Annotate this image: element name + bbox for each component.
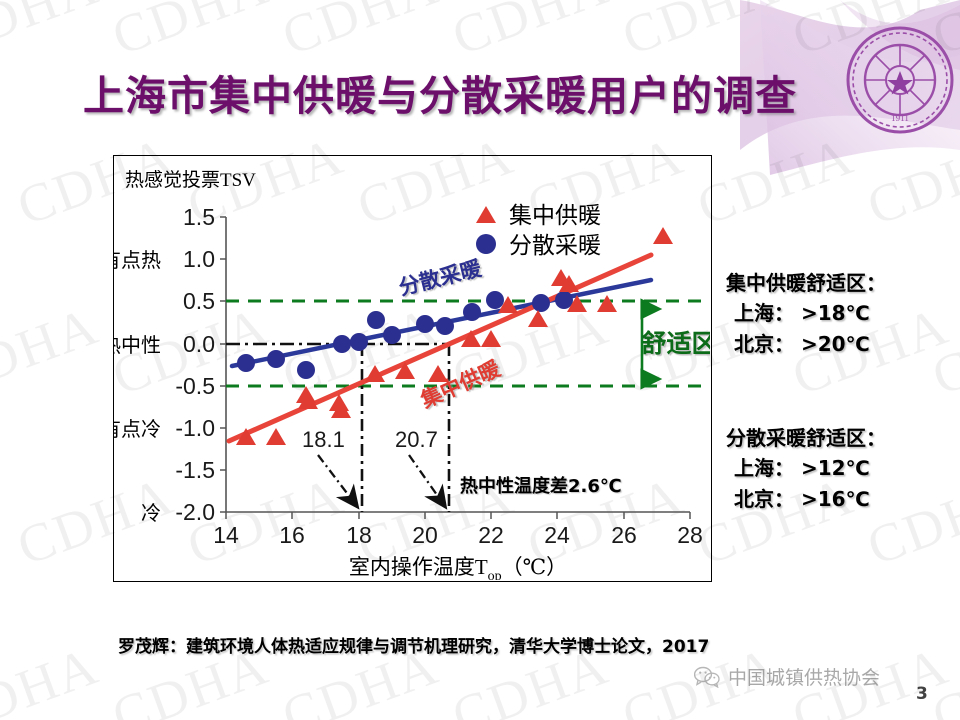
x-tick-label: 24	[544, 522, 570, 548]
scale-label-cold: 冷	[141, 502, 161, 525]
citation-text: 罗茂辉：建筑环境人体热适应规律与调节机理研究，清华大学博士论文，2017	[118, 632, 709, 657]
y-axis-tick-labels: 1.5 1.0 0.5 0.0 -0.5 -1.0 -1.5 -2.0	[175, 204, 215, 525]
watermark-text: CDHA	[689, 124, 862, 237]
x-tick-label: 22	[478, 522, 504, 548]
legend-label-local-heating: 分散采暖	[509, 233, 601, 258]
page-number: 3	[916, 684, 928, 704]
data-points-central-heating	[236, 227, 673, 445]
logo-year-text: 1911	[891, 113, 909, 123]
y-axis-title: 热感觉投票TSV	[125, 169, 256, 191]
central-heating-comfort-panel: 集中供暖舒适区： 上海： >18℃ 北京： >20℃	[726, 268, 886, 359]
thermal-sensation-chart: 热感觉投票TSV 1.5 1.0 0.5 0.0 -0.5 -1.0 -1.5 …	[113, 155, 710, 580]
slide-root: 1911 上海市集中供暖与分散采暖用户的调查 热感觉投票TSV	[0, 0, 960, 720]
central-heating-heading: 集中供暖舒适区：	[726, 268, 886, 298]
local-heating-heading: 分散采暖舒适区：	[726, 423, 886, 453]
watermark-text: CDHA	[859, 124, 960, 237]
neutral-temp-label-20: 20.7	[395, 427, 438, 452]
page-title: 上海市集中供暖与分散采暖用户的调查	[0, 62, 880, 122]
x-tick-label: 16	[279, 522, 305, 548]
watermark-text: CDHA	[0, 0, 107, 68]
y-tick-label: 0.0	[183, 331, 215, 357]
x-tick-label: 14	[213, 522, 239, 548]
y-tick-label: 1.0	[183, 246, 215, 272]
scale-label-neutral: 热中性	[113, 334, 161, 357]
y-tick-label: 1.5	[183, 204, 215, 230]
wechat-account-name: 中国城镇供热协会	[728, 663, 880, 690]
local-heating-comfort-panel: 分散采暖舒适区： 上海： >12℃ 北京： >16℃	[726, 423, 886, 514]
x-tick-label: 20	[412, 522, 438, 548]
central-heating-shanghai: 上海： >18℃	[726, 298, 886, 328]
x-axis-title-sub: op	[488, 569, 502, 580]
wechat-icon	[694, 666, 721, 688]
chart-legend: 集中供暖 分散采暖	[476, 203, 601, 258]
local-heating-shanghai: 上海： >12℃	[726, 453, 886, 483]
neutral-difference-note: 热中性温度差2.6℃	[460, 475, 622, 497]
x-tick-label: 18	[346, 522, 372, 548]
x-axis-title: 室内操作温度Top（℃）	[349, 555, 567, 580]
legend-marker-circle	[476, 234, 496, 254]
callout-arrow-18	[318, 455, 356, 505]
legend-label-central-heating: 集中供暖	[509, 203, 601, 228]
central-heating-beijing: 北京： >20℃	[726, 329, 886, 359]
y-scale-verbal-labels: 有点热 热中性 有点冷 冷	[113, 249, 161, 525]
watermark-text: CDHA	[924, 294, 960, 407]
local-heating-beijing: 北京： >16℃	[726, 484, 886, 514]
curve-label-local-heating: 分散采暖	[396, 256, 484, 300]
y-axis-ticks	[220, 217, 226, 512]
scale-label-cool: 有点冷	[113, 418, 161, 441]
x-axis-title-main: 室内操作温度T	[349, 555, 488, 579]
y-tick-label: 0.5	[183, 288, 215, 314]
comfort-zone-label: 舒适区	[641, 329, 710, 358]
watermark-text: CDHA	[924, 634, 960, 720]
callout-arrow-20	[409, 455, 444, 505]
watermark-text: CDHA	[0, 634, 107, 720]
x-tick-label: 28	[677, 522, 703, 548]
y-tick-label: -2.0	[175, 499, 215, 525]
legend-marker-triangle	[476, 206, 496, 223]
watermark-text: CDHA	[444, 0, 617, 68]
x-axis-tick-labels: 14 16 18 20 22 24 26 28	[213, 522, 703, 548]
watermark-text: CDHA	[0, 294, 107, 407]
watermark-text: CDHA	[274, 0, 447, 68]
y-tick-label: -1.5	[175, 457, 215, 483]
watermark-text: CDHA	[614, 0, 787, 68]
y-tick-label: -1.0	[175, 415, 215, 441]
neutral-temp-label-18: 18.1	[302, 427, 345, 452]
y-tick-label: -0.5	[175, 373, 215, 399]
x-axis-ticks	[226, 512, 690, 519]
scale-label-warm: 有点热	[113, 249, 161, 272]
footer-wechat-account: 中国城镇供热协会	[694, 663, 880, 690]
watermark-text: CDHA	[104, 0, 277, 68]
x-axis-title-unit: （℃）	[502, 555, 568, 579]
x-tick-label: 26	[611, 522, 637, 548]
